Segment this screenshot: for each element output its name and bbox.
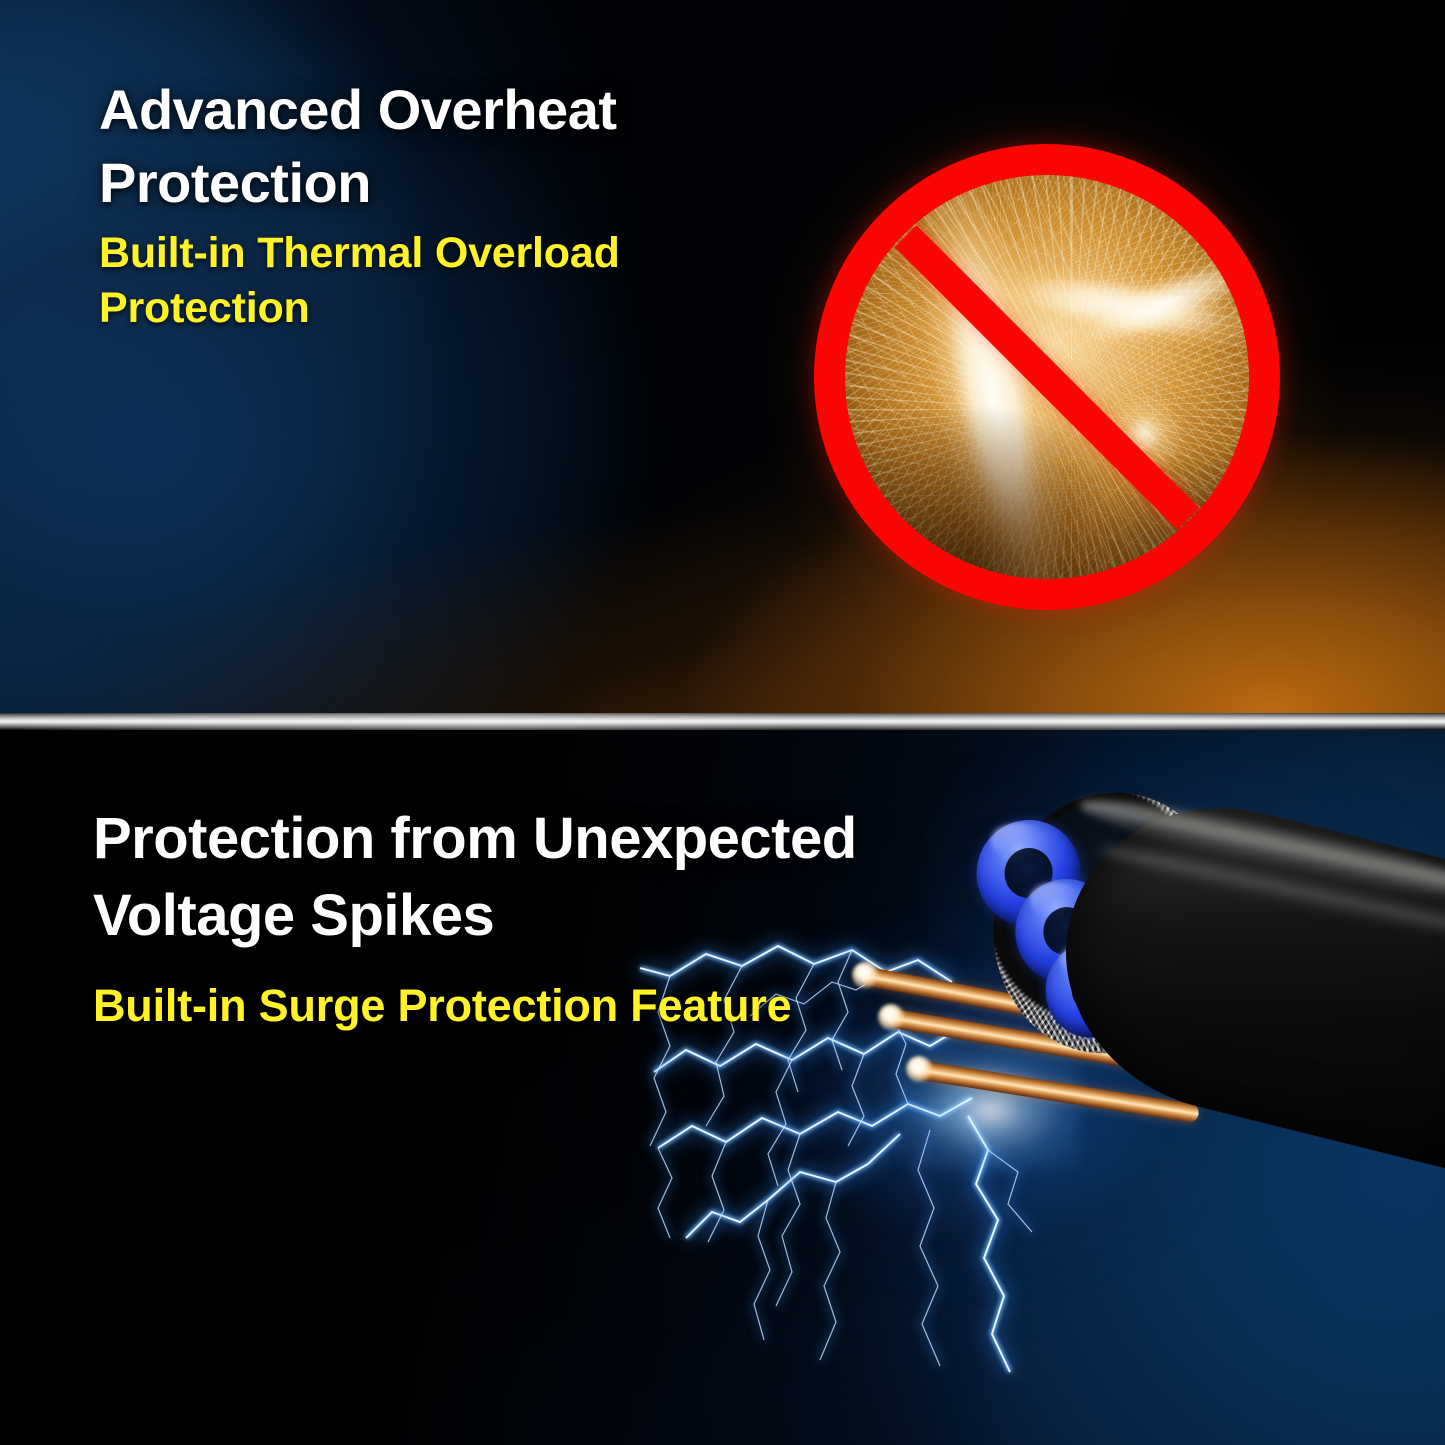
surge-subline: Built-in Surge Protection Feature (93, 976, 923, 1036)
overheat-text-block: Advanced Overheat Protection Built-in Th… (99, 74, 739, 336)
overheat-headline: Advanced Overheat Protection (99, 74, 739, 220)
feature-panels-image: Advanced Overheat Protection Built-in Th… (0, 0, 1445, 1445)
surge-headline: Protection from Unexpected Voltage Spike… (93, 800, 923, 954)
prohibition-sign-overheat (814, 144, 1280, 610)
metallic-divider-sheen (0, 713, 1445, 730)
panel-overheat-protection: Advanced Overheat Protection Built-in Th… (0, 0, 1445, 716)
surge-text-block: Protection from Unexpected Voltage Spike… (93, 800, 923, 1036)
overheat-subline: Built-in Thermal Overload Protection (99, 226, 739, 336)
conductor-tip-glow (906, 1056, 932, 1082)
